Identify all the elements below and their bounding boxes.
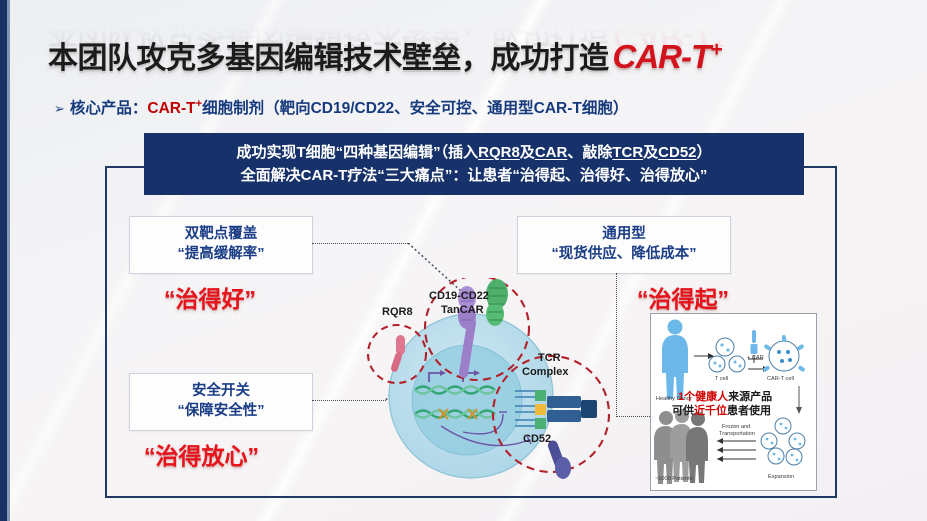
red-callout-line2-highlight: 近千位 [694, 405, 727, 417]
callout-safety-switch-title: 安全开关 [192, 382, 250, 402]
label-frozen-line1: Frozen and [722, 424, 750, 430]
red-callout-line2-lead: 可供 [672, 405, 694, 417]
banner-line1-part-b: 及 [520, 144, 535, 161]
callout-dual-target-title: 双靶点覆盖 [185, 225, 258, 245]
callout-safety-switch[interactable]: 安全开关 “保障安全性” [129, 373, 313, 431]
cd52-molecule [547, 439, 571, 479]
label-tcr-line1: TCR [538, 352, 561, 364]
banner-line1-part-e: ） [697, 144, 712, 161]
banner-line1-underline-tcr: TCR [612, 144, 643, 161]
down-arrow-icon [796, 386, 802, 414]
banner-line-2: 全面解决CAR-T疗法“三大痛点”：让患者“治得起、治得好、治得放心” [241, 164, 708, 187]
bullet-arrow-icon: ➢ [54, 101, 65, 116]
slogan-affordable: “治得起” [637, 280, 729, 314]
left-accent-bar [0, 0, 7, 521]
slogan-treat-safely: “治得放心” [144, 437, 259, 471]
callout-universal-title: 通用型 [602, 225, 646, 245]
callout-safety-switch-subtitle: “保障安全性” [178, 402, 265, 422]
banner-line1-underline-car: CAR [535, 144, 568, 161]
subtitle-lead: 核心产品： [70, 100, 148, 117]
label-plus-car: + CAR [747, 355, 764, 361]
slide-canvas: 本团队攻克多基因编辑技术壁垒，成功打造CAR-T+ 本团队攻克多基因编辑技术壁垒… [0, 0, 927, 521]
expansion-cell-cluster [761, 418, 805, 465]
page-title-brand-superscript: + [710, 38, 721, 61]
banner-line-1: 成功实现T细胞“四种基因编辑”（插入RQR8及CAR、敲除TCR及CD52） [236, 141, 711, 164]
label-tancar-line1: CD19-CD22 [429, 290, 489, 302]
banner-line1-part-c: 、敲除 [567, 144, 612, 161]
callout-universal[interactable]: 通用型 “现货供应、降低成本” [517, 216, 731, 274]
label-tancar-line2: TanCAR [441, 304, 484, 316]
subtitle-rest: 细胞制剂（靶向CD19/CD22、安全可控、通用型CAR-T细胞） [202, 100, 628, 117]
highlight-banner: 成功实现T细胞“四种基因编辑”（插入RQR8及CAR、敲除TCR及CD52） 全… [144, 133, 804, 195]
banner-line1-part-a: 成功实现T细胞“四种基因编辑”（插入 [236, 144, 478, 161]
page-title-brand: CAR-T [613, 38, 711, 75]
slogan-treat-well: “治得好” [164, 280, 256, 314]
callout-dual-target[interactable]: 双靶点覆盖 “提高缓解率” [129, 216, 313, 274]
cell-diagram: RQR8 CD19-CD22 TanCAR TCR Complex CD52 [355, 278, 617, 494]
label-car-t-cell: CAR-T cell [767, 376, 794, 382]
left-accent-bar-secondary [7, 0, 10, 521]
red-callout-line2-rest: 患者使用 [727, 405, 771, 417]
banner-line1-underline-rqr8: RQR8 [478, 144, 520, 161]
label-cd52: CD52 [523, 433, 551, 445]
page-title: 本团队攻克多基因编辑技术壁垒，成功打造CAR-T+ [48, 33, 721, 77]
banner-line1-underline-cd52: CD52 [658, 144, 696, 161]
label-frozen-line2: Transportation [719, 431, 755, 437]
car-t-cell [762, 335, 805, 373]
page-title-cn: 本团队攻克多基因编辑技术壁垒，成功打造 [48, 42, 609, 75]
patient-group-figures [654, 409, 708, 484]
red-callout-line-2: 可供近千位患者使用 [672, 402, 771, 418]
subtitle-bullet-line: ➢核心产品：CAR-T+细胞制剂（靶向CD19/CD22、安全可控、通用型CAR… [54, 96, 628, 118]
label-t-cell: T cell [715, 376, 728, 382]
subtitle-brand: CAR-T [147, 100, 195, 117]
banner-line1-part-d: 及 [643, 144, 658, 161]
callout-dual-target-subtitle: “提高缓解率” [178, 245, 265, 265]
label-expansion: Expansion [768, 474, 794, 480]
connector-dual-to-cell-horizontal [312, 243, 410, 244]
label-rqr8: RQR8 [382, 306, 413, 318]
callout-universal-subtitle: “现货供应、降低成本” [552, 245, 697, 265]
universal-car-t-illustration-panel: T cell + CAR CAR-T cell Healthy Donor Fr… [650, 313, 817, 491]
transport-arrows [717, 438, 756, 462]
label-patient-count: ~1000 Patients [655, 476, 692, 482]
page-title-brand-group: CAR-T+ [613, 38, 722, 75]
label-tcr-line2: Complex [522, 366, 568, 378]
